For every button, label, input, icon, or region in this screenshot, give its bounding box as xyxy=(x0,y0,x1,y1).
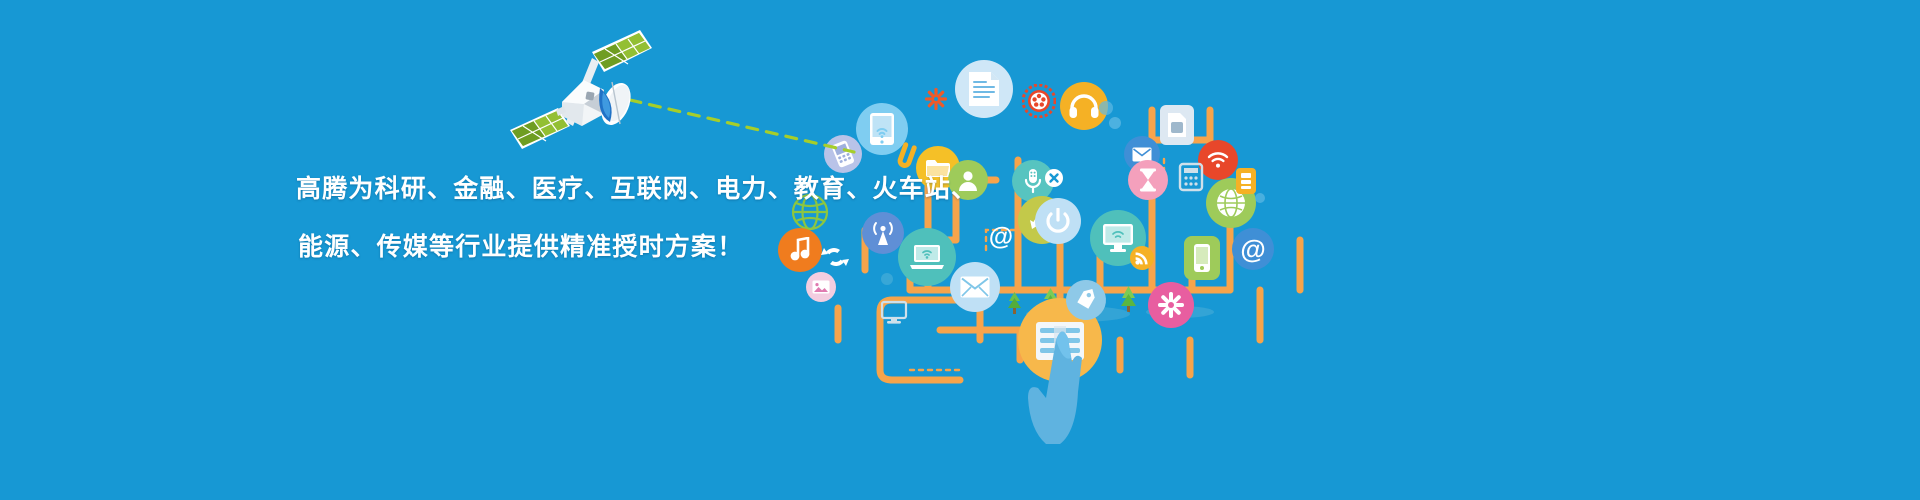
headline-block: 高腾为科研、金融、医疗、互联网、电力、教育、火车站、 能源、传媒等行业提供精准授… xyxy=(296,160,936,276)
sim-card-icon xyxy=(1160,105,1194,145)
calculator-icon xyxy=(1178,162,1204,192)
at-badge-icon: @ xyxy=(1232,228,1274,270)
at-sign-icon: @ xyxy=(988,224,1014,250)
screen-small-icon xyxy=(880,300,908,326)
flower-icon xyxy=(1148,282,1194,328)
wifi-signal-icon xyxy=(1198,140,1238,180)
rss-icon xyxy=(1130,246,1154,270)
at-badge-glyph: @ xyxy=(1240,236,1265,262)
hero-banner: @ @ xyxy=(0,0,1920,500)
satellite-illustration xyxy=(500,18,660,158)
document-icon xyxy=(955,60,1013,118)
bubble-decoration-icon xyxy=(1254,192,1266,204)
headline-line-1: 高腾为科研、金融、医疗、互联网、电力、教育、火车站、 xyxy=(296,160,936,218)
dot-decoration-icon xyxy=(1108,116,1122,130)
satellite-panel-upper xyxy=(592,30,652,72)
power-icon xyxy=(1035,198,1081,244)
server-icon xyxy=(1236,168,1256,194)
at-sign-glyph: @ xyxy=(989,225,1013,250)
hourglass-icon xyxy=(1128,160,1168,200)
camera-shutter-icon xyxy=(1022,84,1056,118)
gear-icon xyxy=(925,88,947,110)
close-icon xyxy=(1044,168,1064,188)
headline-line-2: 能源、传媒等行业提供精准授时方案！ xyxy=(296,218,936,276)
bubble-decoration-icon xyxy=(1098,100,1114,116)
photo-icon xyxy=(806,272,836,302)
satellite-dish xyxy=(596,79,637,130)
envelope-icon xyxy=(950,262,1000,312)
mobile-device-icon xyxy=(1184,236,1220,280)
